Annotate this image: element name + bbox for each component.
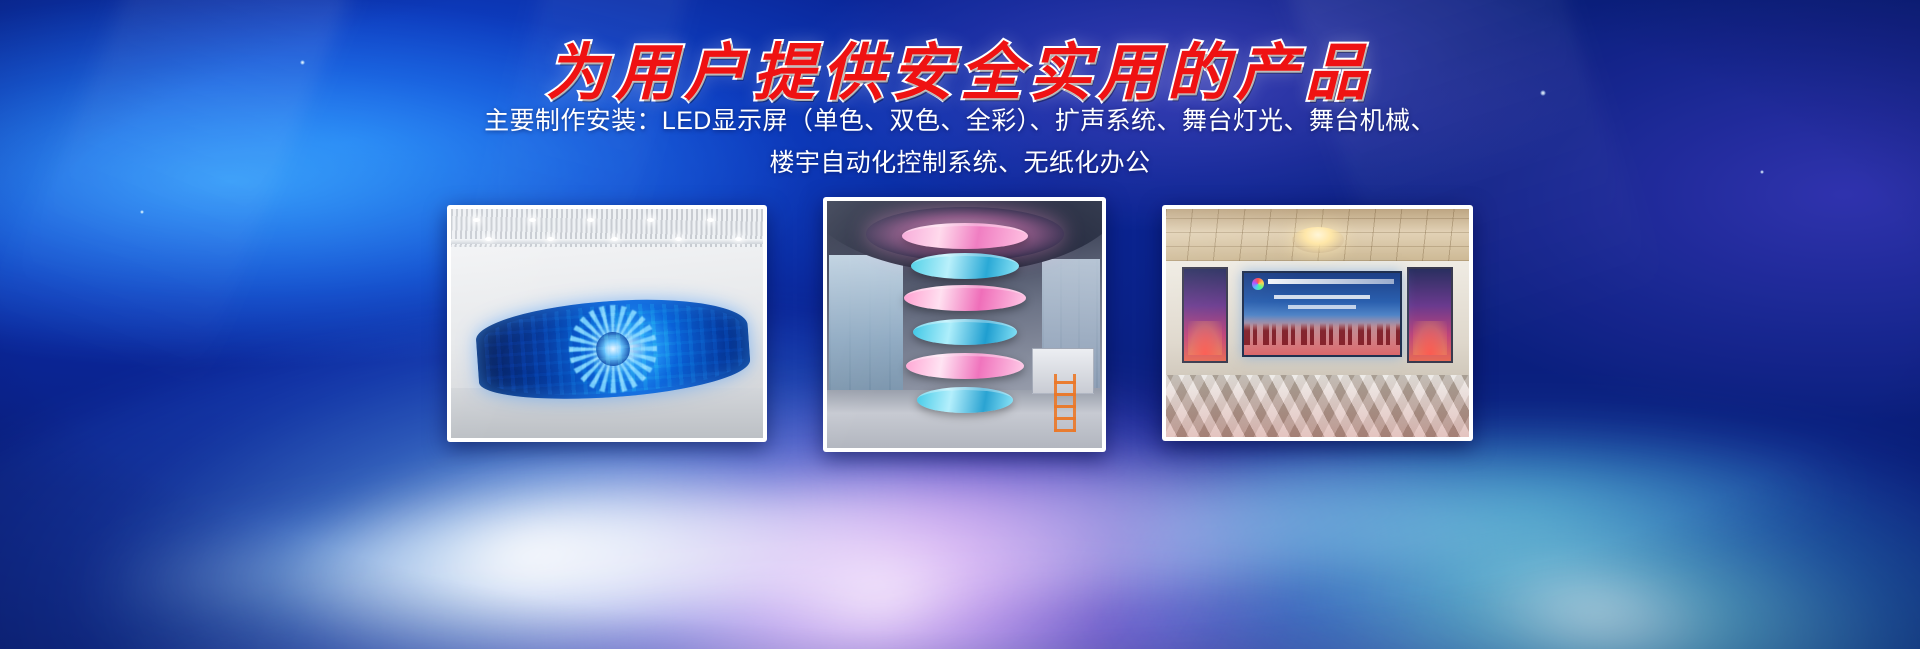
photo-spiral-helix-led-display[interactable] xyxy=(823,197,1106,452)
page-title: 为用户提供安全实用的产品 xyxy=(0,22,1920,112)
step-ladder xyxy=(1054,374,1076,432)
spiral-led-structure xyxy=(885,219,1045,425)
screen-slogan-line-2 xyxy=(1288,305,1356,309)
promo-banner: 为用户提供安全实用的产品 主要制作安装：LED显示屏（单色、双色、全彩）、扩声系… xyxy=(0,0,1920,649)
side-led-panel-left xyxy=(1182,267,1228,363)
ceiling-downlight-icon xyxy=(485,237,492,241)
subtitle-line-1: 主要制作安装：LED显示屏（单色、双色、全彩）、扩声系统、舞台灯光、舞台机械、 xyxy=(0,100,1920,142)
ceiling-downlight-icon xyxy=(675,237,682,241)
ceiling-downlight-icon xyxy=(611,237,618,241)
company-logo-icon xyxy=(1252,278,1264,290)
subtitle-line-2: 楼宇自动化控制系统、无纸化办公 xyxy=(0,142,1920,184)
ceiling-downlight-icon xyxy=(735,237,742,241)
side-led-panel-right xyxy=(1407,267,1453,363)
photo-gallery xyxy=(0,205,1920,470)
helix-band xyxy=(913,319,1017,345)
helix-band xyxy=(904,285,1026,311)
screen-company-line xyxy=(1268,279,1394,284)
helix-band xyxy=(917,387,1013,413)
helix-band xyxy=(911,253,1019,279)
helix-band xyxy=(906,353,1024,379)
screen-city-skyline xyxy=(1244,323,1400,345)
ceiling-downlight-icon xyxy=(473,218,480,222)
ceiling-downlight-icon xyxy=(587,218,594,222)
helix-band xyxy=(902,223,1028,249)
ceiling-downlight-icon xyxy=(529,218,536,222)
photo-1-content xyxy=(451,209,763,438)
chandelier-icon xyxy=(1292,227,1344,253)
photo-2-content xyxy=(827,201,1102,448)
ceiling-downlight-icon xyxy=(647,218,654,222)
hall-floor-reflection xyxy=(1166,375,1469,437)
main-led-screen xyxy=(1242,271,1402,357)
screen-slogan-line-1 xyxy=(1274,295,1370,299)
lobby-ceiling-slats xyxy=(451,209,763,247)
photo-conference-hall-led-screen[interactable] xyxy=(1162,205,1473,441)
subtitle-block: 主要制作安装：LED显示屏（单色、双色、全彩）、扩声系统、舞台灯光、舞台机械、 … xyxy=(0,100,1920,184)
ceiling-downlight-icon xyxy=(547,237,554,241)
photo-3-content xyxy=(1166,209,1469,437)
ceiling-downlight-icon xyxy=(707,218,714,222)
photo-lobby-eye-led-display[interactable] xyxy=(447,205,767,442)
